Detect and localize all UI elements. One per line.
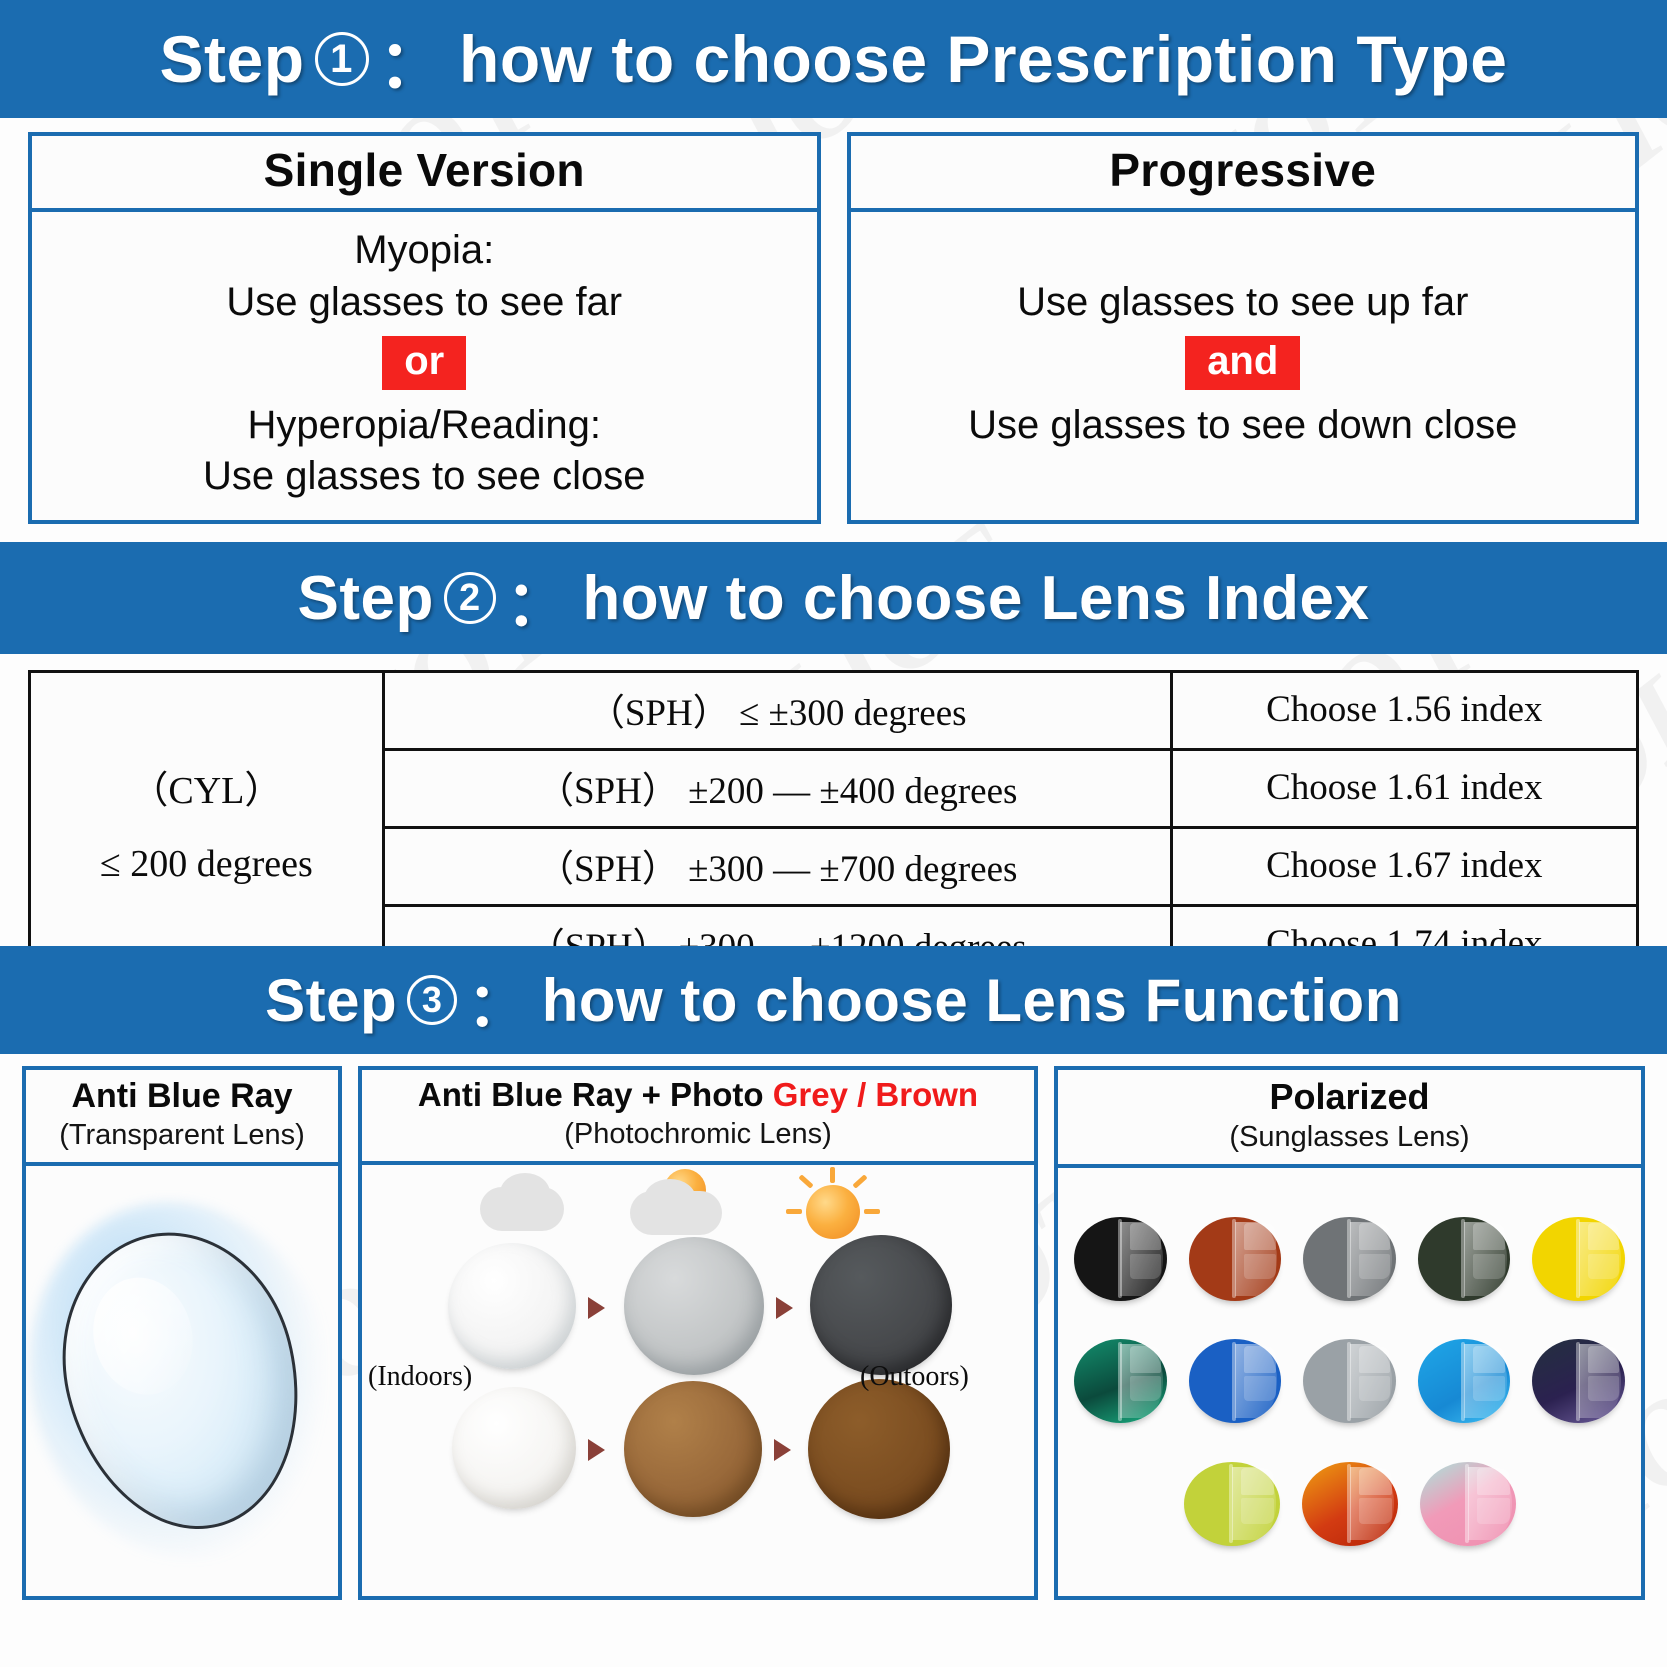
conjunction-badge-or: or	[382, 336, 466, 390]
myopia-desc: Use glasses to see far	[226, 278, 622, 328]
progressive-close-desc: Use glasses to see down close	[968, 401, 1517, 451]
step1-number-icon: 1	[315, 32, 369, 86]
lens-stage-grey-2	[624, 1237, 764, 1375]
step1-title: how to choose Prescription Type	[459, 21, 1507, 97]
anti-blue-ray-title: Anti Blue Ray	[30, 1076, 334, 1116]
step1-banner: Step 1 ： how to choose Prescription Type	[0, 0, 1667, 118]
lens-swatch-lime[interactable]	[1184, 1462, 1280, 1546]
outdoors-label: (Outoors)	[860, 1361, 969, 1393]
step2-banner: Step 2 ： how to choose Lens Index	[0, 542, 1667, 654]
photochromic-art: (Indoors) (Outoors)	[362, 1165, 1034, 1596]
lens-stage-brown-1	[452, 1387, 576, 1509]
index-cell: Choose 1.56 index	[1171, 672, 1637, 750]
lens-swatch-blue[interactable]	[1189, 1339, 1282, 1423]
sun-ray-icon	[852, 1174, 867, 1188]
arrow-icon	[588, 1439, 605, 1461]
lens-swatch-silver[interactable]	[1303, 1339, 1396, 1423]
polarized-title: Polarized	[1062, 1076, 1637, 1118]
step2-colon: ：	[506, 553, 569, 643]
lens-stage-brown-3	[808, 1379, 950, 1519]
prescription-type-row: Single Version Myopia: Use glasses to se…	[0, 118, 1667, 542]
lens-index-table: （CYL） ≤ 200 degrees （SPH） ≤ ±300 degrees…	[28, 670, 1639, 985]
polarized-swatch-grid	[1058, 1168, 1641, 1596]
hyperopia-desc: Use glasses to see close	[203, 452, 645, 502]
photochromic-subtitle: (Photochromic Lens)	[366, 1117, 1030, 1152]
polarized-header: Polarized (Sunglasses Lens)	[1058, 1070, 1641, 1168]
photochromic-title-colors: Grey / Brown	[773, 1076, 978, 1113]
lens-stage-grey-1	[448, 1243, 576, 1369]
polarized-subtitle: (Sunglasses Lens)	[1062, 1120, 1637, 1155]
lens-swatch-purple[interactable]	[1532, 1339, 1625, 1423]
sun-ray-icon	[830, 1167, 835, 1183]
lens-swatch-brown[interactable]	[1189, 1217, 1282, 1301]
lens-index-section: （CYL） ≤ 200 degrees （SPH） ≤ ±300 degrees…	[0, 654, 1667, 946]
index-cell: Choose 1.67 index	[1171, 828, 1637, 906]
progressive-body: Use glasses to see up far and Use glasse…	[851, 212, 1636, 520]
sun-ray-icon	[786, 1209, 802, 1214]
photochromic-title-plain: Anti Blue Ray + Photo	[418, 1076, 773, 1113]
step1-colon: ：	[379, 11, 446, 107]
sun-ray-icon	[864, 1209, 880, 1214]
lens-function-row: Anti Blue Ray (Transparent Lens) Anti Bl…	[0, 1054, 1667, 1614]
step3-prefix: Step	[265, 966, 397, 1035]
polarized-panel[interactable]: Polarized (Sunglasses Lens)	[1054, 1066, 1645, 1600]
cyl-value: ≤ 200 degrees	[31, 828, 382, 900]
step2-number-icon: 2	[444, 572, 496, 624]
photochromic-header: Anti Blue Ray + Photo Grey / Brown (Phot…	[362, 1070, 1034, 1165]
progressive-heading: Progressive	[851, 136, 1636, 212]
step3-colon: ：	[467, 957, 528, 1044]
photochromic-panel[interactable]: Anti Blue Ray + Photo Grey / Brown (Phot…	[358, 1066, 1038, 1600]
arrow-icon	[776, 1297, 793, 1319]
anti-blue-ray-panel[interactable]: Anti Blue Ray (Transparent Lens)	[22, 1066, 342, 1600]
photochromic-stage-grid: (Indoors) (Outoors)	[362, 1165, 1034, 1596]
single-version-box[interactable]: Single Version Myopia: Use glasses to se…	[28, 132, 821, 524]
sph-cell: （SPH） ±300 — ±700 degrees	[383, 828, 1171, 906]
single-version-heading: Single Version	[32, 136, 817, 212]
step1-prefix: Step	[160, 21, 305, 97]
progressive-box[interactable]: Progressive Use glasses to see up far an…	[847, 132, 1640, 524]
anti-blue-ray-header: Anti Blue Ray (Transparent Lens)	[26, 1070, 338, 1166]
single-version-body: Myopia: Use glasses to see far or Hypero…	[32, 212, 817, 520]
sun-ray-icon	[798, 1174, 813, 1188]
arrow-icon	[774, 1439, 791, 1461]
conjunction-badge-and: and	[1185, 336, 1300, 390]
step2-title: how to choose Lens Index	[582, 563, 1369, 634]
swatch-row	[1074, 1462, 1625, 1546]
cyl-cell: （CYL） ≤ 200 degrees	[30, 672, 384, 984]
step3-number-icon: 3	[407, 975, 457, 1025]
lens-swatch-sky-blue[interactable]	[1418, 1339, 1511, 1423]
sph-cell: （SPH） ±200 — ±400 degrees	[383, 750, 1171, 828]
index-cell: Choose 1.61 index	[1171, 750, 1637, 828]
lens-stage-brown-2	[624, 1381, 762, 1517]
table-row: （CYL） ≤ 200 degrees （SPH） ≤ ±300 degrees…	[30, 672, 1638, 750]
indoors-label: (Indoors)	[368, 1361, 472, 1393]
lens-swatch-black[interactable]	[1074, 1217, 1167, 1301]
anti-blue-ray-art	[26, 1166, 338, 1596]
lens-swatch-dark-green[interactable]	[1418, 1217, 1511, 1301]
infographic-page: CHOLIOT CHOLIOT CHOLIOT CHOLIOT CHOLIOT …	[0, 0, 1667, 1667]
sun-icon	[806, 1185, 860, 1239]
cyl-label: （CYL）	[31, 755, 382, 827]
sph-cell: （SPH） ≤ ±300 degrees	[383, 672, 1171, 750]
step3-title: how to choose Lens Function	[542, 966, 1402, 1035]
lens-stage-grey-3	[810, 1235, 952, 1375]
anti-blue-ray-subtitle: (Transparent Lens)	[30, 1118, 334, 1153]
step3-banner: Step 3 ： how to choose Lens Function	[0, 946, 1667, 1054]
arrow-icon	[588, 1297, 605, 1319]
lens-swatch-red-orange[interactable]	[1302, 1462, 1398, 1546]
progressive-far-desc: Use glasses to see up far	[1017, 278, 1468, 328]
polarized-art	[1058, 1168, 1641, 1596]
photochromic-title: Anti Blue Ray + Photo Grey / Brown	[366, 1076, 1030, 1115]
step2-prefix: Step	[298, 563, 434, 634]
swatch-row	[1074, 1339, 1625, 1423]
myopia-label: Myopia:	[354, 226, 494, 276]
hyperopia-label: Hyperopia/Reading:	[247, 401, 601, 451]
cloud-icon	[500, 1173, 550, 1213]
lens-swatch-teal[interactable]	[1074, 1339, 1167, 1423]
lens-swatch-pink[interactable]	[1420, 1462, 1516, 1546]
cloud-icon	[644, 1179, 696, 1219]
lens-swatch-yellow[interactable]	[1532, 1217, 1625, 1301]
swatch-row	[1074, 1217, 1625, 1301]
lens-swatch-grey[interactable]	[1303, 1217, 1396, 1301]
